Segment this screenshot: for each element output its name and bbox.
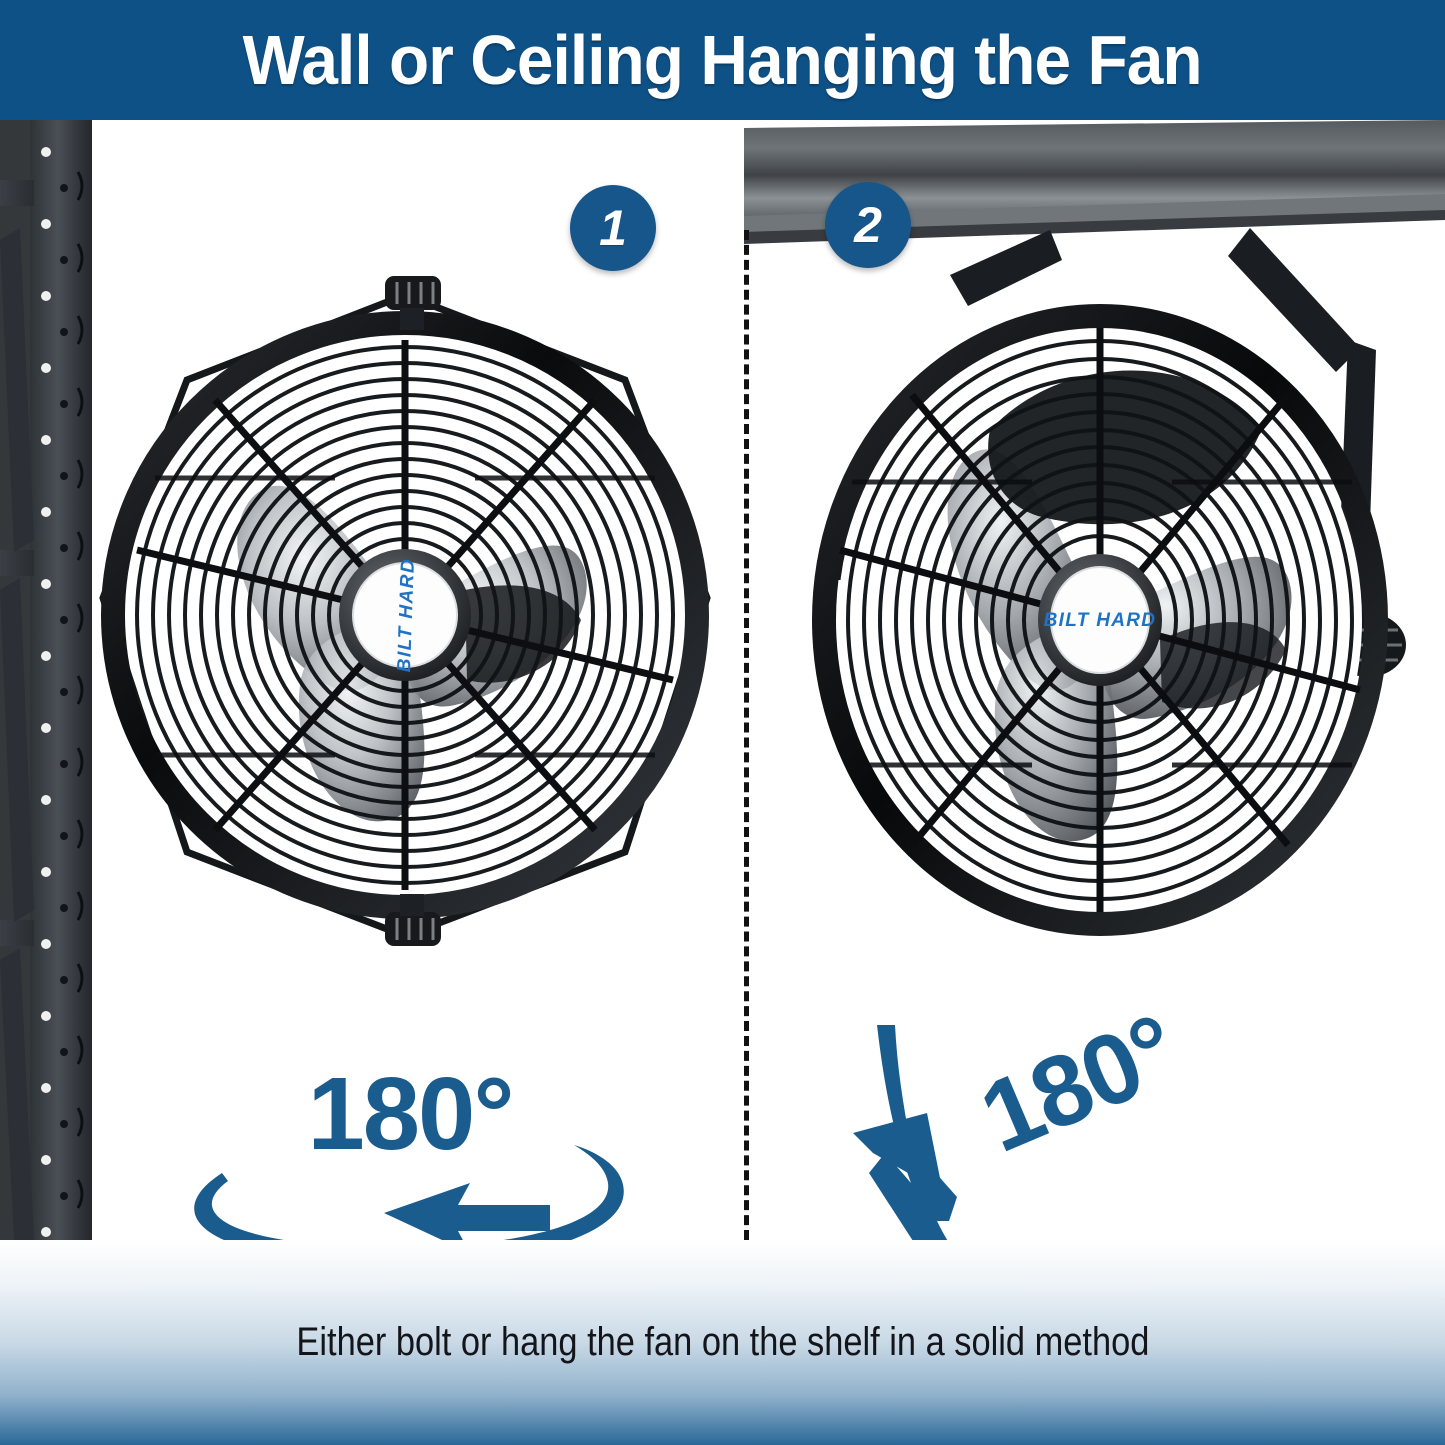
footer-banner: Either bolt or hang the fan on the shelf… [0,1240,1445,1445]
panel-divider [744,230,749,1240]
page-title: Wall or Ceiling Hanging the Fan [243,20,1202,100]
header-banner: Wall or Ceiling Hanging the Fan [0,0,1445,120]
fan-brand-label-right: BILT HARD [1044,610,1157,631]
rotation-indicator-tilt: 180° [815,1025,1235,1240]
rotation-indicator-horizontal: 180° [170,1055,650,1240]
swivel-arrow-icon [170,1135,650,1240]
illustration-canvas: 1 2 [0,120,1445,1240]
step-badge-1-number: 1 [599,203,627,253]
fan-brand-label-left: BILT HARD [394,557,419,672]
ceiling-hanging-fan: BILT HARD [800,220,1420,980]
step-badge-1: 1 [570,185,656,271]
footer-caption: Either bolt or hang the fan on the shelf… [296,1320,1149,1365]
infographic-root: Wall or Ceiling Hanging the Fan [0,0,1445,1445]
wall-mounted-fan: BILT HARD [95,260,715,960]
